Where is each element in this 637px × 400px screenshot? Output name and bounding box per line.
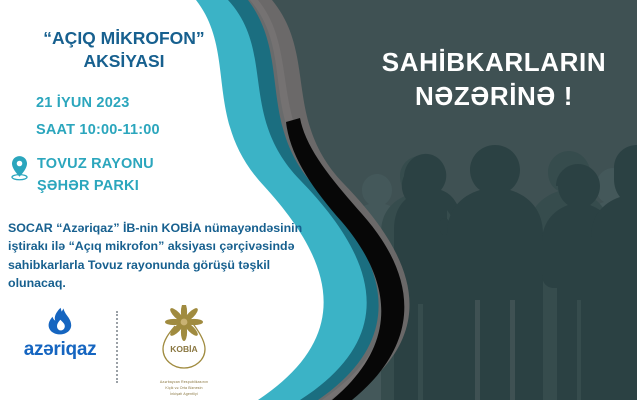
event-description: SOCAR “Azəriqaz” İB-nin KOBİA nümayəndəs… xyxy=(8,219,318,292)
title-line-1: “AÇIQ MİKROFON” xyxy=(43,28,204,48)
kobia-caption-line-3: İnkişafı Agentliyi xyxy=(132,392,236,398)
title-line-2: AKSİYASI xyxy=(4,50,244,73)
azeriqaz-wordmark: azəriqaz xyxy=(14,339,106,361)
headline-line-2: NƏZƏRİNƏ ! xyxy=(358,80,630,114)
logo-divider xyxy=(116,311,118,383)
event-date: 21 İYUN 2023 xyxy=(36,90,160,117)
location-line-1: TOVUZ RAYONU xyxy=(37,153,154,175)
event-location: TOVUZ RAYONU ŞƏHƏR PARKI xyxy=(10,153,154,197)
azeriqaz-logo: azəriqaz xyxy=(14,305,106,361)
event-datetime: 21 İYUN 2023 SAAT 10:00-11:00 xyxy=(36,90,160,144)
headline: SAHİBKARLARIN NƏZƏRİNƏ ! xyxy=(358,46,630,114)
event-time: SAAT 10:00-11:00 xyxy=(36,117,160,144)
flame-icon xyxy=(47,307,73,335)
kobia-wordmark: KOBİA xyxy=(170,344,197,354)
kobia-flower-icon: KOBİA xyxy=(151,305,217,373)
location-line-2: ŞƏHƏR PARKI xyxy=(37,175,154,197)
logo-row: azəriqaz xyxy=(14,305,236,397)
page-title: “AÇIQ MİKROFON” AKSİYASI xyxy=(4,27,244,73)
headline-line-1: SAHİBKARLARIN xyxy=(382,47,606,77)
kobia-caption: Azərbaycan Respublikasının Kiçik və Orta… xyxy=(132,380,236,397)
location-text: TOVUZ RAYONU ŞƏHƏR PARKI xyxy=(37,153,154,197)
left-content-column: “AÇIQ MİKROFON” AKSİYASI 21 İYUN 2023 SA… xyxy=(0,0,300,400)
event-poster: SAHİBKARLARIN NƏZƏRİNƏ ! “AÇIQ MİKROFON”… xyxy=(0,0,637,400)
kobia-logo: KOBİA Azərbaycan Respublikasının Kiçik v… xyxy=(132,305,236,397)
map-pin-icon xyxy=(10,155,29,181)
